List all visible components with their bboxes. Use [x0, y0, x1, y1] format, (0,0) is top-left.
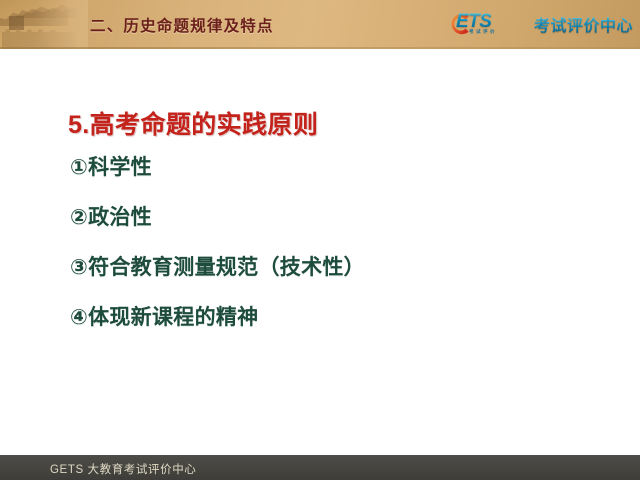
list-item: ①科学性	[70, 157, 610, 178]
ets-logo-mark: ETS 考试评价	[447, 10, 531, 38]
slide-canvas: 二、历史命题规律及特点 ETS 考试评价 考试评价中心	[0, 0, 640, 480]
photo-fade-overlay	[0, 0, 88, 49]
ets-logo-chinese-name: 考试评价中心	[534, 12, 633, 36]
great-wall-photo	[0, 0, 88, 49]
slide-body: 5.高考命题的实践原则 ①科学性 ②政治性 ③符合教育测量规范（技术性） ④体现…	[0, 49, 640, 455]
list-item: ②政治性	[70, 207, 610, 228]
page-title: 5.高考命题的实践原则	[68, 105, 318, 141]
ets-logo: ETS 考试评价 考试评价中心	[447, 9, 633, 39]
slide-header-band: 二、历史命题规律及特点 ETS 考试评价 考试评价中心	[0, 0, 640, 49]
list-item: ④体现新课程的精神	[70, 307, 610, 328]
footer-brand-text: GETS 大教育考试评价中心	[50, 461, 196, 477]
slide-footer-bar: GETS 大教育考试评价中心	[0, 455, 640, 480]
ets-logo-subtext: 考试评价	[469, 29, 497, 35]
section-heading: 二、历史命题规律及特点	[90, 14, 274, 36]
bullet-list: ①科学性 ②政治性 ③符合教育测量规范（技术性） ④体现新课程的精神	[70, 157, 610, 328]
list-item: ③符合教育测量规范（技术性）	[70, 257, 610, 278]
